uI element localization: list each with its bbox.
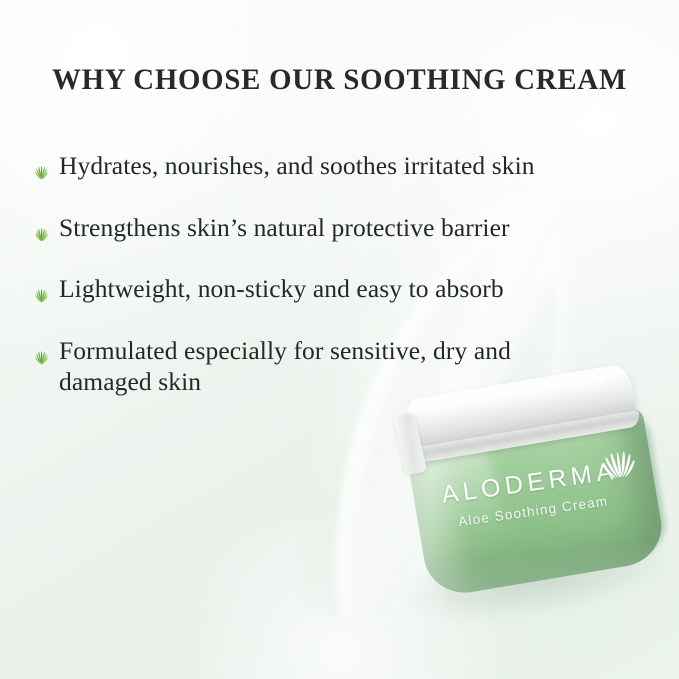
benefit-text: Strengthens skin’s natural protective ba… (59, 213, 510, 242)
page-title: WHY CHOOSE OUR SOOTHING CREAM (14, 64, 666, 96)
promo-poster: WHY CHOOSE OUR SOOTHING CREAM Hydrat (0, 0, 679, 679)
benefit-text: Lightweight, non-sticky and easy to abso… (59, 274, 504, 303)
aloe-sprout-icon (32, 156, 51, 175)
aloe-sprout-icon (32, 279, 51, 298)
product-jar: ALODERMA Aloe Soothing Cream (388, 352, 678, 607)
aloe-sprout-icon (32, 341, 51, 360)
benefits-list: Hydrates, nourishes, and soothes irritat… (31, 150, 541, 398)
benefit-item: Strengthens skin’s natural protective ba… (31, 212, 541, 244)
aloe-sprout-icon (32, 218, 51, 237)
benefit-item: Hydrates, nourishes, and soothes irritat… (31, 150, 541, 182)
aloe-plant-icon (591, 431, 645, 485)
benefit-text: Hydrates, nourishes, and soothes irritat… (59, 151, 535, 180)
benefit-item: Lightweight, non-sticky and easy to abso… (31, 273, 541, 305)
